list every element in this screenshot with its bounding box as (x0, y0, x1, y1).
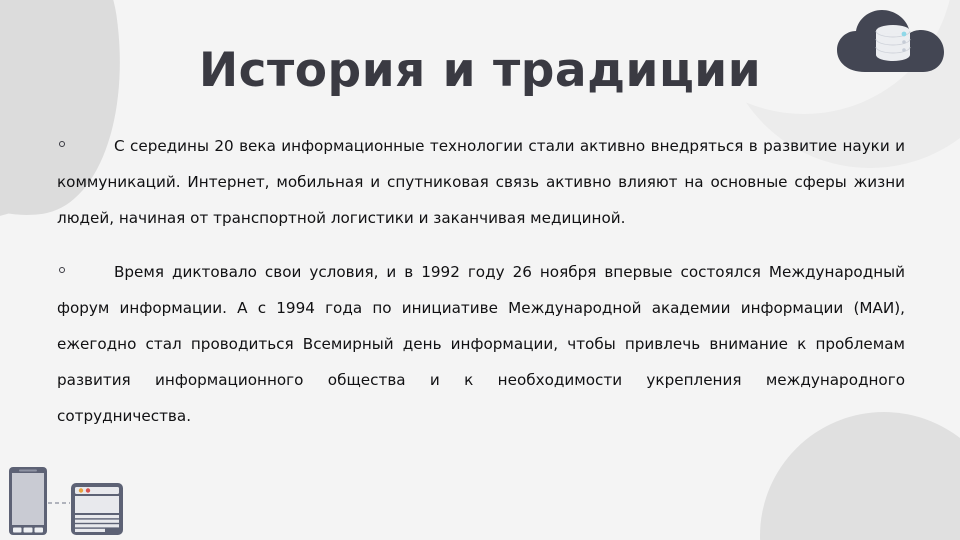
slide-title: История и традиции (0, 44, 960, 98)
smartphone-icon (9, 467, 47, 535)
bullet-marker-icon (59, 267, 65, 273)
paragraph-text: С середины 20 века информационные технол… (57, 128, 905, 236)
paragraph-text: Время диктовало свои условия, и в 1992 г… (57, 254, 905, 434)
slide-body: С середины 20 века информационные технол… (57, 128, 905, 434)
devices-illustration (6, 461, 132, 537)
slide-canvas: История и традиции С середины 20 века ин… (0, 0, 960, 540)
cloud-database-icon (831, 6, 955, 78)
bullet-paragraph: Время диктовало свои условия, и в 1992 г… (57, 254, 905, 434)
browser-window-icon (71, 483, 123, 535)
bullet-marker-icon (59, 141, 65, 147)
bullet-paragraph: С середины 20 века информационные технол… (57, 128, 905, 236)
